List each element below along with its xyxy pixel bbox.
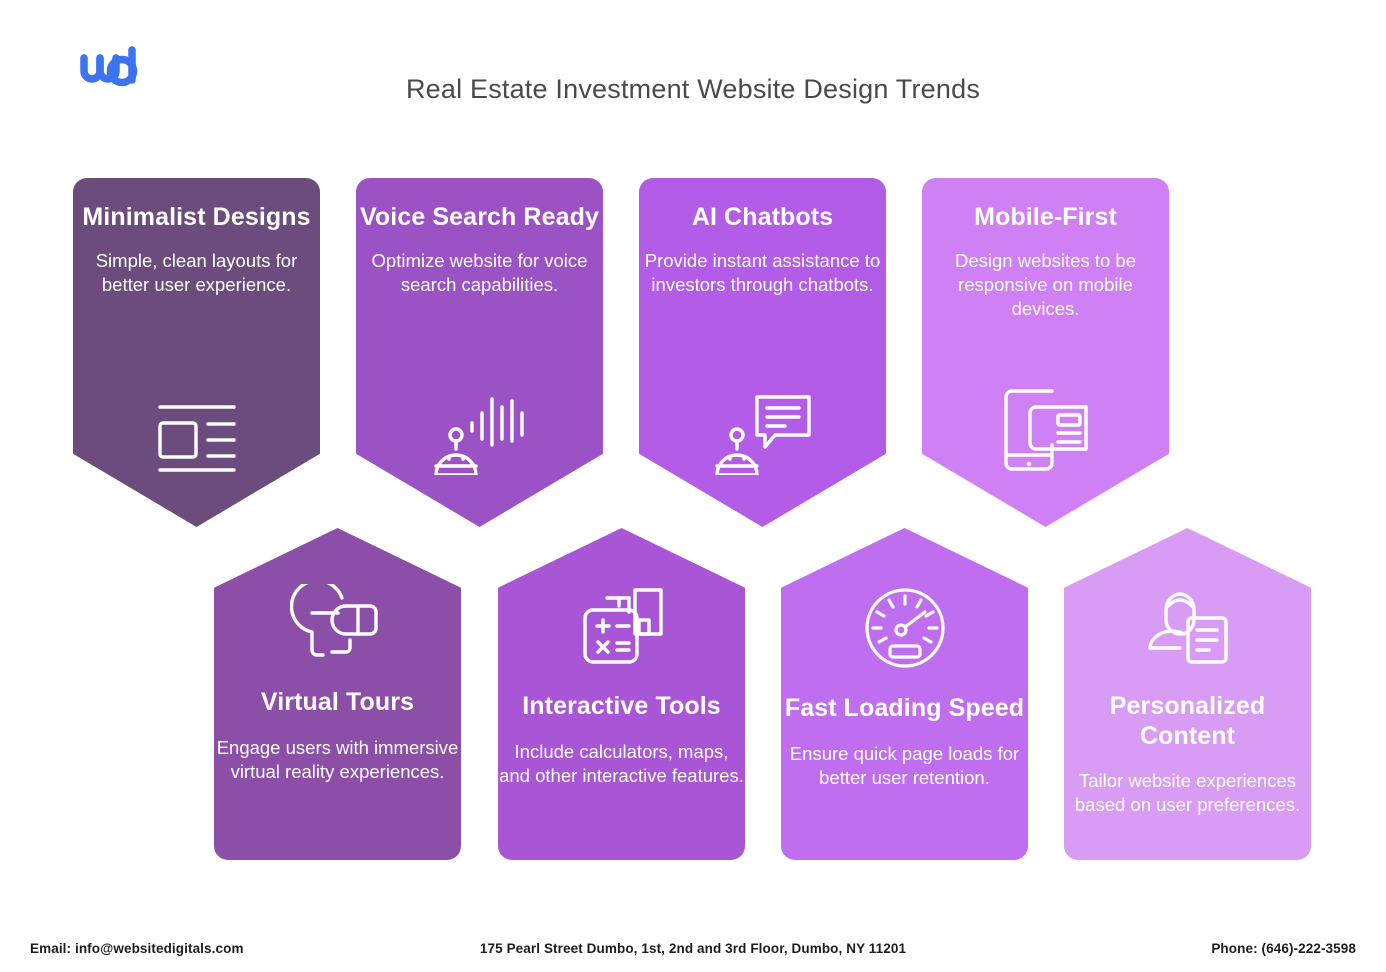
card-description: Engage users with immersive virtual real… — [214, 736, 461, 785]
footer-address: 175 Pearl Street Dumbo, 1st, 2nd and 3rd… — [0, 941, 1386, 956]
card-description: Simple, clean layouts for better user ex… — [73, 249, 320, 298]
card-description: Ensure quick page loads for better user … — [781, 742, 1028, 791]
person-document-icon — [1144, 584, 1232, 670]
card-description: Include calculators, maps, and other int… — [498, 740, 745, 789]
card-title: Mobile-First — [974, 203, 1117, 233]
card-title: Personalized Content — [1064, 692, 1311, 751]
speedometer-icon — [861, 584, 949, 672]
card-description: Tailor website experiences based on user… — [1064, 769, 1311, 818]
calculator-map-icon — [577, 584, 667, 670]
card-title: Fast Loading Speed — [785, 694, 1024, 724]
trend-card-personalized-content[interactable]: Personalized Content Tailor website expe… — [1064, 528, 1311, 860]
layout-wireframe-icon — [154, 401, 240, 475]
mobile-responsive-icon — [1000, 385, 1092, 475]
voice-robot-icon — [432, 391, 528, 475]
vr-headset-icon — [290, 584, 386, 666]
card-description: Provide instant assistance to investors … — [639, 249, 886, 298]
trend-card-ai-chatbots[interactable]: AI Chatbots Provide instant assistance t… — [639, 178, 886, 527]
trend-card-fast-loading-speed[interactable]: Fast Loading Speed Ensure quick page loa… — [781, 528, 1028, 860]
trend-card-mobile-first[interactable]: Mobile-First Design websites to be respo… — [922, 178, 1169, 527]
chatbot-icon — [713, 391, 813, 475]
card-title: Virtual Tours — [261, 688, 414, 718]
footer-phone[interactable]: Phone: (646)-222-3598 — [1211, 941, 1356, 956]
card-title: Interactive Tools — [522, 692, 721, 722]
card-title: Voice Search Ready — [360, 203, 599, 233]
trend-card-minimalist-designs[interactable]: Minimalist Designs Simple, clean layouts… — [73, 178, 320, 527]
page-title: Real Estate Investment Website Design Tr… — [0, 74, 1386, 105]
trend-card-voice-search-ready[interactable]: Voice Search Ready Optimize website for … — [356, 178, 603, 527]
card-title: Minimalist Designs — [82, 203, 310, 233]
trend-card-interactive-tools[interactable]: Interactive Tools Include calculators, m… — [498, 528, 745, 860]
card-description: Design websites to be responsive on mobi… — [922, 249, 1169, 322]
trend-card-virtual-tours[interactable]: Virtual Tours Engage users with immersiv… — [214, 528, 461, 860]
card-description: Optimize website for voice search capabi… — [356, 249, 603, 298]
card-title: AI Chatbots — [692, 203, 833, 233]
